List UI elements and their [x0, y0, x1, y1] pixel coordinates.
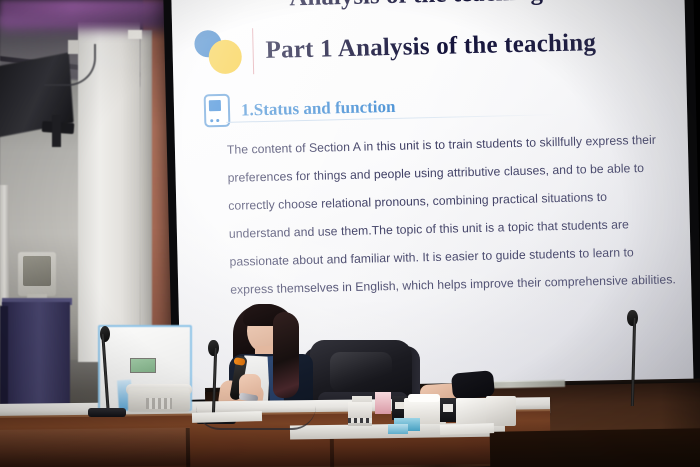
crt-monitor-screen	[23, 256, 51, 286]
desk-box-dark-2-label	[443, 404, 453, 412]
desk-telephone-keypad	[146, 398, 172, 409]
wall-outlet-box	[68, 40, 79, 54]
monitor-small-display	[130, 358, 156, 373]
wall-column-side	[140, 30, 152, 362]
wall-speaker-box	[128, 30, 142, 39]
scene-photo: Analysis of the teaching Part 1 Analysis…	[0, 0, 700, 467]
wall-tv-mount	[52, 115, 61, 147]
presenter-hair-side	[273, 312, 299, 398]
slide-title: Part 1 Analysis of the teaching	[265, 29, 596, 65]
desk-panel-left	[0, 428, 190, 467]
yellow-circle-icon	[208, 39, 242, 74]
device-image-icon-screen	[209, 100, 221, 111]
slide-heading: 1.Status and function	[241, 96, 396, 120]
slide-title-row: Part 1 Analysis of the teaching	[194, 19, 597, 76]
slide-logo	[194, 27, 251, 76]
desk-box-pink	[375, 392, 391, 414]
gooseneck-mic-left-base	[88, 408, 126, 417]
white-box-2	[486, 396, 516, 426]
desk-napkins	[440, 423, 494, 435]
device-image-icon-dot-right	[216, 119, 219, 122]
desk-seam-center	[330, 436, 334, 467]
desk-box-b-stripe	[348, 418, 372, 423]
chair-highlight	[330, 352, 392, 392]
title-divider	[252, 28, 254, 74]
tissue-box-top	[408, 394, 440, 402]
slide-body-text: The content of Section A in this unit is…	[227, 126, 661, 304]
cyan-box-2	[388, 424, 408, 434]
slide-title-cutoff: Analysis of the teaching	[289, 0, 543, 12]
desk-seam-left	[186, 428, 190, 467]
wall-pipe	[0, 185, 9, 305]
desk-paper	[192, 411, 262, 423]
cabinet-side-panel	[0, 306, 8, 418]
device-image-icon-dot-left	[210, 119, 213, 122]
desk-front-right	[490, 428, 700, 467]
